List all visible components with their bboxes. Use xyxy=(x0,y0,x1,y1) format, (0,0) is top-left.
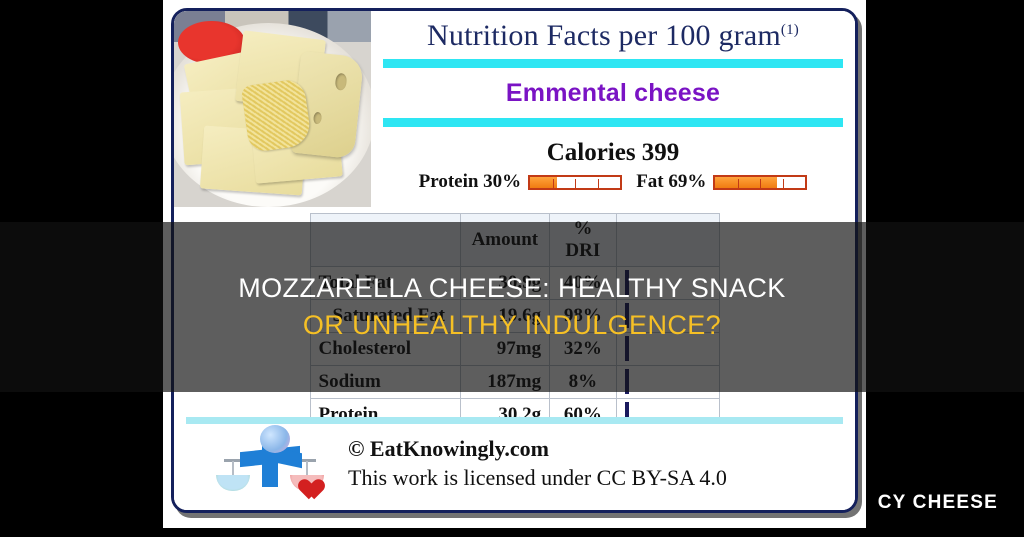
macro-protein-bar xyxy=(528,175,622,190)
eatknowingly-logo-icon xyxy=(210,425,330,503)
cyan-divider-bottom xyxy=(383,118,843,127)
macro-fat-bar xyxy=(713,175,807,190)
scale-pan-left-icon xyxy=(216,475,250,491)
infographic-footer: © EatKnowingly.com This work is licensed… xyxy=(174,417,855,510)
macro-summary: Protein 30% Fat 69% xyxy=(371,171,855,197)
infographic-header-band: Nutrition Facts per 100 gram(1) Emmental… xyxy=(174,11,855,207)
globe-icon xyxy=(260,425,290,453)
macro-protein: Protein 30% xyxy=(419,171,623,193)
grated-cheese xyxy=(241,77,313,152)
overlay-title-line-1: MOZZARELLA CHEESE: HEALTHY SNACK xyxy=(238,273,785,304)
cyan-divider-top xyxy=(383,59,843,68)
footer-credits: © EatKnowingly.com This work is licensed… xyxy=(348,436,727,491)
site-watermark: CY CHEESE xyxy=(878,492,998,514)
nutrition-facts-title: Nutrition Facts per 100 gram(1) xyxy=(371,15,855,56)
footnote-marker: (1) xyxy=(781,22,799,38)
product-name: Emmental cheese xyxy=(371,71,855,115)
cheese-hole-icon xyxy=(334,73,347,90)
footer-divider xyxy=(186,417,843,424)
overlay-title-line-2: OR UNHEALTHY INDULGENCE? xyxy=(303,310,721,341)
calories-value: Calories 399 xyxy=(371,130,855,171)
cheese-hole-icon xyxy=(313,112,322,125)
heart-icon xyxy=(294,471,318,493)
copyright-line: © EatKnowingly.com xyxy=(348,436,727,462)
macro-fat-label: Fat 69% xyxy=(636,171,706,193)
title-overlay-banner: MOZZARELLA CHEESE: HEALTHY SNACK OR UNHE… xyxy=(0,222,1024,392)
macro-fat-bar-fill xyxy=(715,177,777,188)
cheese-photo xyxy=(174,11,371,207)
macro-protein-label: Protein 30% xyxy=(419,171,522,193)
license-line: This work is licensed under CC BY-SA 4.0 xyxy=(348,465,727,491)
nutrition-facts-title-text: Nutrition Facts per 100 gram xyxy=(427,19,781,52)
header-text-block: Nutrition Facts per 100 gram(1) Emmental… xyxy=(371,11,855,207)
screenshot-stage: Nutrition Facts per 100 gram(1) Emmental… xyxy=(0,0,1024,537)
macro-fat: Fat 69% xyxy=(636,171,807,193)
